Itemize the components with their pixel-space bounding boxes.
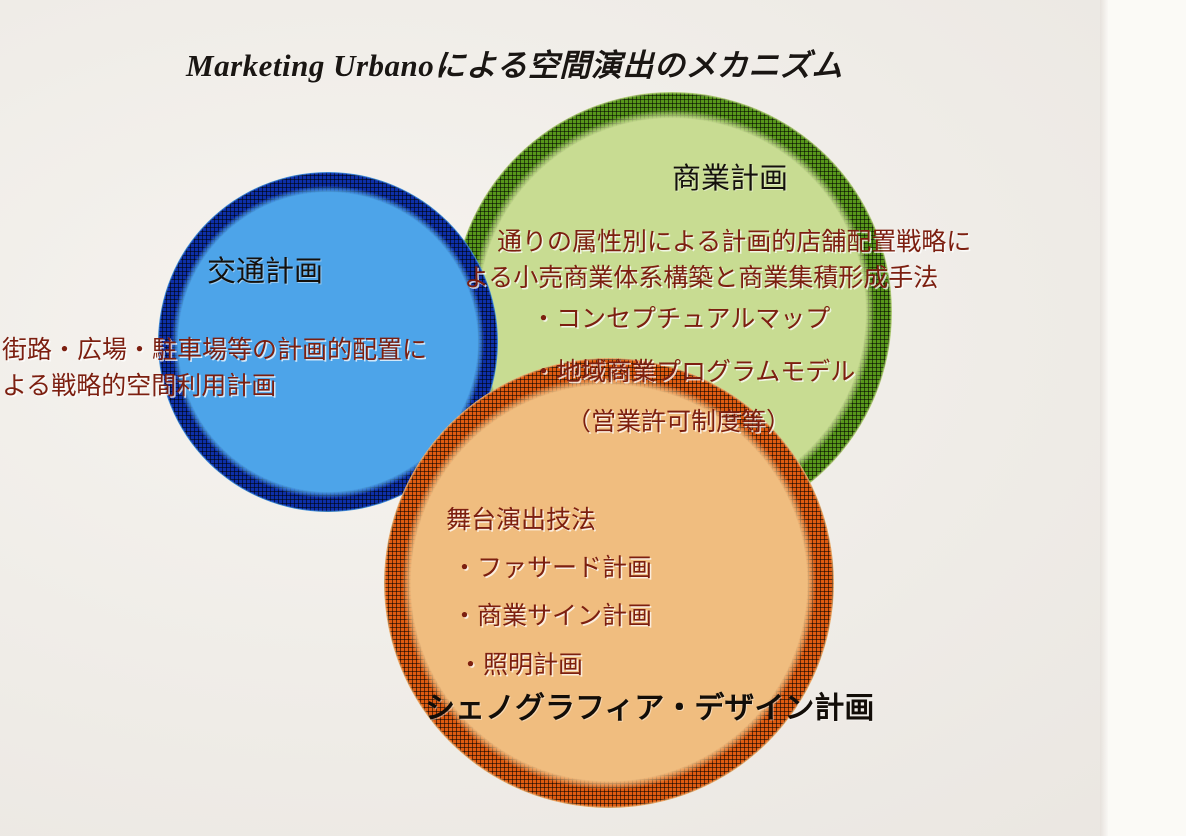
commercial-plan-line-2: よる小売商業体系構築と商業集積形成手法 (464, 258, 938, 294)
scenography-bullet-2: ・商業サイン計画 (452, 596, 652, 632)
traffic-plan-line-1: 街路・広場・駐車場等の計画的配置に (2, 330, 427, 366)
paper-right-margin (1108, 0, 1186, 836)
diagram-title: Marketing Urbanoによる空間演出のメカニズム (186, 40, 843, 85)
diagram-page: Marketing Urbanoによる空間演出のメカニズム 交通計画 街路・広場… (0, 0, 1186, 836)
paper-edge-shadow (1100, 0, 1108, 836)
heading-stage-direction-technique: 舞台演出技法 (446, 500, 596, 536)
heading-commercial-plan: 商業計画 (672, 155, 788, 197)
scenography-bullet-3: ・照明計画 (458, 645, 583, 681)
scenography-bullet-1: ・ファサード計画 (452, 548, 652, 584)
traffic-plan-line-2: よる戦略的空間利用計画 (2, 366, 276, 402)
heading-traffic-plan: 交通計画 (207, 248, 323, 290)
heading-scenography-design-plan: シェノグラフィア・デザイン計画 (425, 683, 874, 727)
commercial-plan-line-1: 通りの属性別による計画的店舗配置戦略に (497, 222, 971, 258)
commercial-plan-note: （営業許可制度等） (566, 402, 791, 438)
commercial-plan-bullet-1: ・コンセプチュアルマップ (531, 299, 830, 335)
commercial-plan-bullet-2: ・地域商業プログラムモデル (531, 352, 855, 388)
